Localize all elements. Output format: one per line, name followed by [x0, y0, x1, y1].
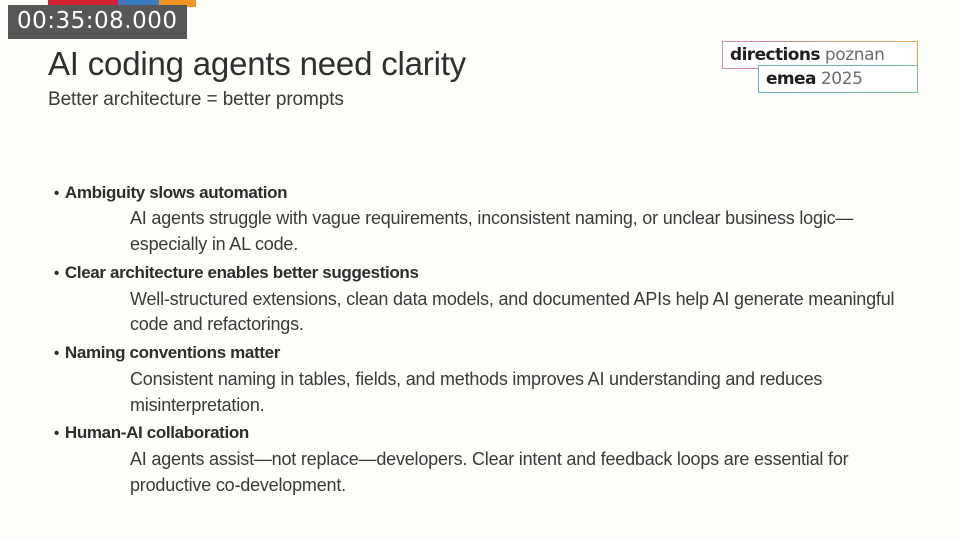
- bullet-block: • Clear architecture enables better sugg…: [54, 260, 924, 338]
- bullet-heading: • Clear architecture enables better sugg…: [54, 260, 924, 286]
- bullet-marker-icon: •: [54, 186, 59, 201]
- bullet-body-text: AI agents struggle with vague requiremen…: [130, 206, 920, 258]
- slide-content: • Ambiguity slows automation AI agents s…: [54, 180, 924, 501]
- bullet-heading: • Ambiguity slows automation: [54, 180, 924, 206]
- logo-word-2025: 2025: [821, 69, 863, 89]
- bullet-body-text: AI agents assist—not replace—developers.…: [130, 447, 920, 499]
- bullet-marker-icon: •: [54, 346, 59, 361]
- bullet-block: • Naming conventions matter Consistent n…: [54, 340, 924, 418]
- bullet-heading-text: Ambiguity slows automation: [65, 180, 287, 206]
- logo-row-bottom: emea 2025: [758, 65, 918, 93]
- bullet-body-text: Well-structured extensions, clean data m…: [130, 287, 920, 339]
- timecode-overlay: 00:35:08.000: [8, 5, 187, 39]
- bullet-block: • Ambiguity slows automation AI agents s…: [54, 180, 924, 258]
- bullet-heading-text: Clear architecture enables better sugges…: [65, 260, 419, 286]
- bullet-marker-icon: •: [54, 266, 59, 281]
- logo-word-emea: emea: [766, 69, 816, 89]
- bullet-body-text: Consistent naming in tables, fields, and…: [130, 367, 920, 419]
- presentation-slide: 00:35:08.000 AI coding agents need clari…: [0, 0, 960, 540]
- bullet-block: • Human-AI collaboration AI agents assis…: [54, 420, 924, 498]
- bullet-marker-icon: •: [54, 426, 59, 441]
- logo-word-poznan: poznan: [825, 45, 885, 65]
- bullet-heading-text: Naming conventions matter: [65, 340, 280, 366]
- bullet-heading-text: Human-AI collaboration: [65, 420, 249, 446]
- bullet-heading: • Naming conventions matter: [54, 340, 924, 366]
- logo-word-directions: directions: [730, 45, 820, 65]
- event-logo: directions poznan emea 2025: [722, 41, 918, 93]
- bullet-heading: • Human-AI collaboration: [54, 420, 924, 446]
